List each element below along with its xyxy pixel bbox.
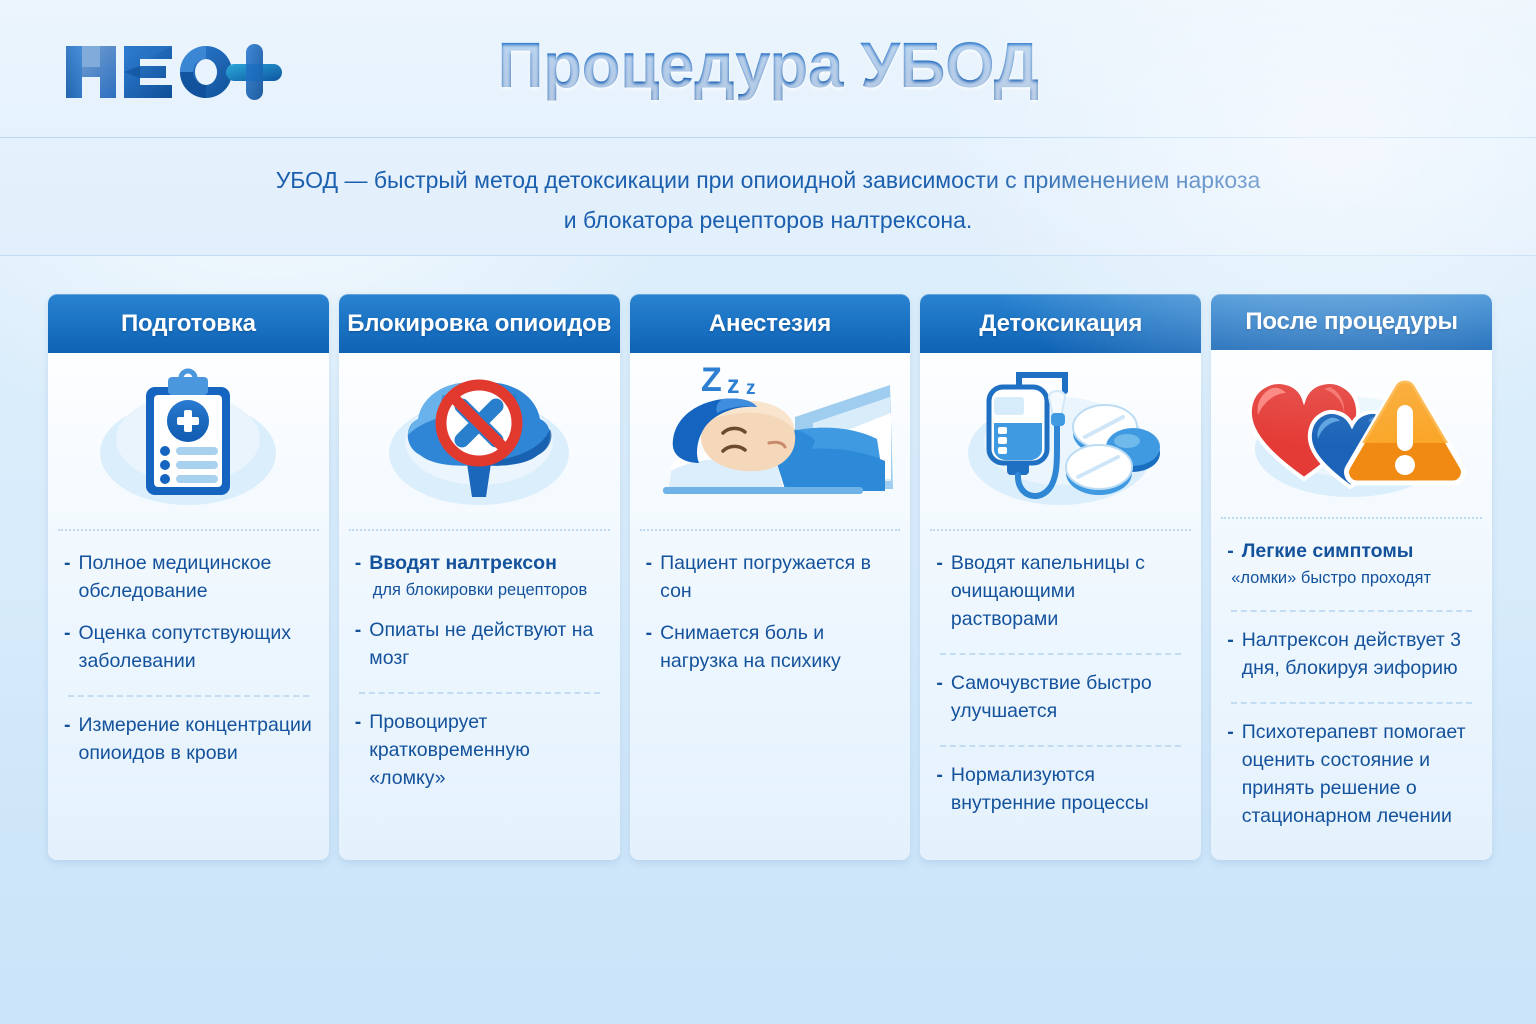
list-item: -Самочувствие быстро улучшается [936, 669, 1185, 725]
hearts-warning-icon [1211, 350, 1492, 517]
step-card-opioid-blocking[interactable]: Блокировка опиоидов [339, 294, 620, 860]
list-item: -Легкие симптомы «ломки» быстро проходят [1227, 537, 1476, 590]
step-card-after-procedure[interactable]: После процедуры [1211, 294, 1492, 860]
step-title-opioid-blocking: Блокировка опиоидов [347, 310, 611, 338]
step-card-preparation[interactable]: Подготовка [48, 294, 329, 860]
step-header-after-procedure: После процедуры [1211, 294, 1492, 350]
step-title-after-procedure: После процедуры [1245, 308, 1458, 336]
step-title-preparation: Подготовка [121, 310, 256, 338]
bullet-dash: - [355, 616, 362, 644]
item-separator [1231, 702, 1472, 704]
step-header-anesthesia: Анестезия [630, 294, 911, 353]
bullet-dash: - [646, 619, 653, 647]
header-divider-top [0, 137, 1536, 138]
list-item-text: Измерение концентрации опиоидов в крови [79, 711, 313, 767]
bullet-dash: - [936, 761, 943, 789]
item-separator [940, 653, 1181, 655]
steps-container: Подготовка [48, 294, 1492, 860]
bullet-dash: - [64, 619, 71, 647]
item-separator [940, 745, 1181, 747]
list-item-text: Оценка сопутствующих заболевании [79, 619, 313, 675]
bullet-dash: - [646, 549, 653, 577]
subtitle-line-2: и блокатора рецепторов налтрексона. [168, 200, 1368, 240]
list-item-text: Нормализуются внутренние процессы [951, 761, 1185, 817]
header-divider-bottom [0, 255, 1536, 256]
list-item: -Полное медицинское обследование [64, 549, 313, 605]
subtitle-line-1: УБОД — быстрый метод детоксикации при оп… [168, 160, 1368, 200]
page-title: Процедура УБОД [0, 28, 1536, 102]
step-header-opioid-blocking: Блокировка опиоидов [339, 294, 620, 353]
list-item: -Измерение концентрации опиоидов в крови [64, 711, 313, 767]
list-item: -Вводят налтрексон для блокировки рецепт… [355, 549, 604, 602]
item-separator [68, 695, 309, 697]
list-item: -Провоцирует кратковременную «ломку» [355, 708, 604, 792]
list-item: -Снимается боль и нагрузка на психику [646, 619, 895, 675]
list-item: -Оценка сопутствующих заболевании [64, 619, 313, 675]
list-item: -Пациент погружается в сон [646, 549, 895, 605]
bullet-dash: - [355, 549, 362, 577]
step-header-preparation: Подготовка [48, 294, 329, 353]
page-subtitle: УБОД — быстрый метод детоксикации при оп… [168, 160, 1368, 240]
list-item: -Нормализуются внутренние процессы [936, 761, 1185, 817]
bullet-dash: - [936, 669, 943, 697]
svg-text:Z: Z [701, 361, 722, 399]
list-item: -Опиаты не действуют на мозг [355, 616, 604, 672]
list-item-text: Провоцирует кратковременную «ломку» [369, 708, 603, 792]
step-body-preparation: -Полное медицинское обследование -Оценка… [48, 531, 329, 860]
list-item-text: Легкие симптомы [1242, 537, 1476, 565]
step-header-detoxification: Детоксикация [920, 294, 1201, 353]
list-item-text: Самочувствие быстро улучшается [951, 669, 1185, 725]
list-item-subtext: для блокировки рецепторов [355, 578, 604, 602]
list-item-text: Снимается боль и нагрузка на психику [660, 619, 894, 675]
step-card-anesthesia[interactable]: Анестезия [630, 294, 911, 860]
list-item: -Психотерапевт помогает оценить состояни… [1227, 718, 1476, 830]
bullet-dash: - [1227, 718, 1234, 746]
step-body-after-procedure: -Легкие симптомы «ломки» быстро проходят… [1211, 519, 1492, 860]
list-item-text: Вводят капельницы с очищающими растворам… [951, 549, 1185, 633]
list-item-text: Пациент погружается в сон [660, 549, 894, 605]
svg-text:z: z [746, 378, 756, 399]
list-item-text: Опиаты не действуют на мозг [369, 616, 603, 672]
sleeping-patient-icon: Z z z [630, 353, 911, 529]
list-item-text: Психотерапевт помогает оценить состояние… [1242, 718, 1476, 830]
step-body-detoxification: -Вводят капельницы с очищающими раствора… [920, 531, 1201, 860]
list-item-text: Вводят налтрексон [369, 549, 603, 577]
list-item-text: Полное медицинское обследование [79, 549, 313, 605]
bullet-dash: - [936, 549, 943, 577]
step-title-detoxification: Детоксикация [979, 310, 1142, 338]
bullet-dash: - [64, 549, 71, 577]
svg-text:z: z [727, 371, 740, 399]
bullet-dash: - [355, 708, 362, 736]
bullet-dash: - [64, 711, 71, 739]
iv-drip-pills-icon [920, 353, 1201, 529]
step-card-detoxification[interactable]: Детоксикация [920, 294, 1201, 860]
clipboard-medical-icon [48, 353, 329, 529]
list-item: -Налтрексон действует 3 дня, блокируя эи… [1227, 626, 1476, 682]
list-item-subtext: «ломки» быстро проходят [1227, 566, 1476, 590]
list-item-text: Налтрексон действует 3 дня, блокируя эиф… [1242, 626, 1476, 682]
bullet-dash: - [1227, 537, 1234, 565]
list-item: -Вводят капельницы с очищающими раствора… [936, 549, 1185, 633]
step-title-anesthesia: Анестезия [709, 310, 831, 338]
brain-blocked-icon [339, 353, 620, 529]
step-body-anesthesia: -Пациент погружается в сон -Снимается бо… [630, 531, 911, 860]
bullet-dash: - [1227, 626, 1234, 654]
step-body-opioid-blocking: -Вводят налтрексон для блокировки рецепт… [339, 531, 620, 860]
item-separator [359, 692, 600, 694]
infographic-page: Процедура УБОД УБОД — быстрый метод дето… [0, 0, 1536, 1024]
item-separator [1231, 610, 1472, 612]
